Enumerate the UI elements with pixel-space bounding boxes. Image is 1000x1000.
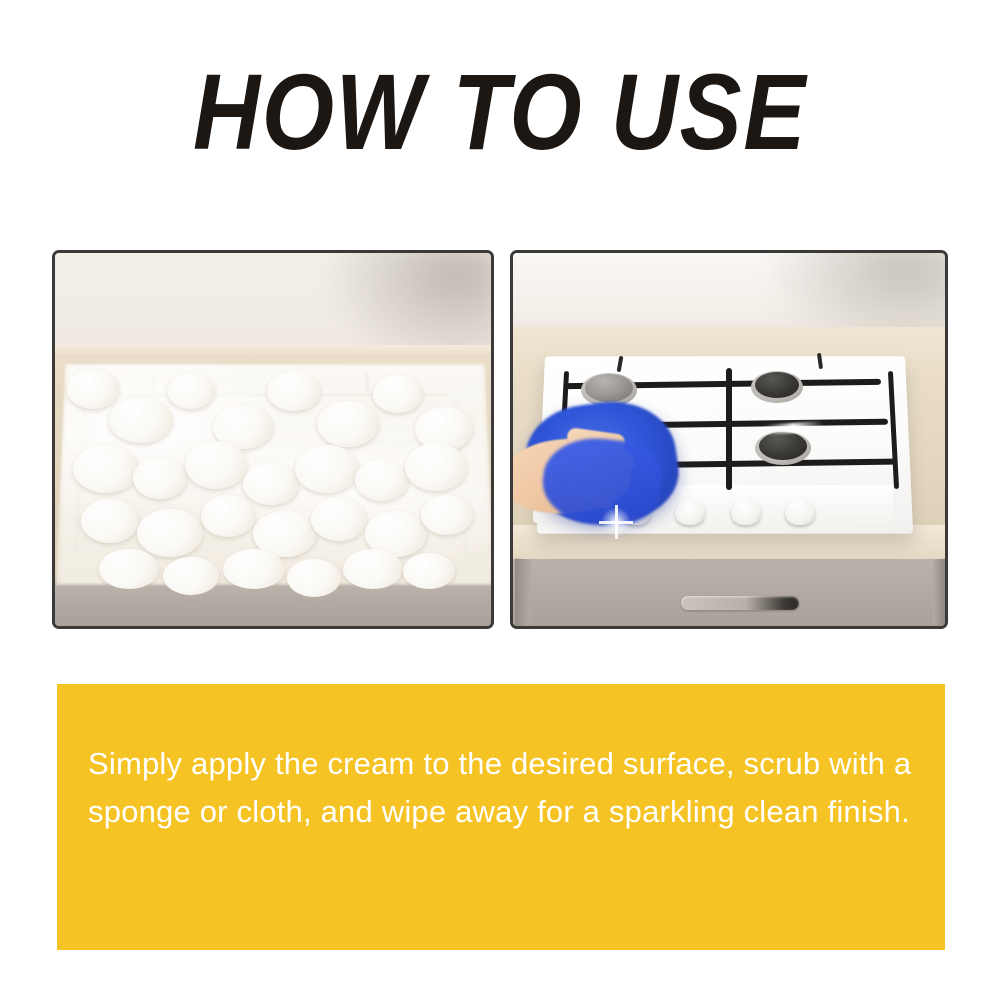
cabinet-drawer-left-side: [515, 558, 531, 626]
burner-cap: [585, 374, 632, 402]
burner-cap: [759, 432, 806, 460]
cooktop-knob: [675, 499, 705, 525]
kitchen-wall: [513, 253, 945, 333]
cooktop-knob: [731, 499, 761, 525]
caption-banner: Simply apply the cream to the desired su…: [57, 684, 945, 950]
cabinet-drawer-right-side: [933, 559, 945, 626]
cabinet-drawer: [513, 559, 945, 626]
drawer-handle: [681, 596, 799, 610]
step-1-photo: [52, 250, 494, 629]
infographic-page: HOW TO USE: [0, 0, 1000, 1000]
sparkle-icon: [599, 505, 633, 539]
kitchen-wall: [55, 253, 491, 351]
step-2-photo: [510, 250, 948, 629]
cooktop-knob: [785, 499, 815, 525]
page-title: HOW TO USE: [70, 58, 930, 166]
burner-cap: [755, 372, 799, 398]
step-1-photo-scene: [55, 253, 491, 626]
photo-gallery: [52, 250, 948, 630]
step-2-photo-scene: [513, 253, 945, 626]
gas-burner: [755, 431, 811, 465]
gas-burner: [751, 371, 803, 403]
cream-foam-clumps: [55, 353, 491, 593]
caption-text: Simply apply the cream to the desired su…: [88, 740, 915, 836]
